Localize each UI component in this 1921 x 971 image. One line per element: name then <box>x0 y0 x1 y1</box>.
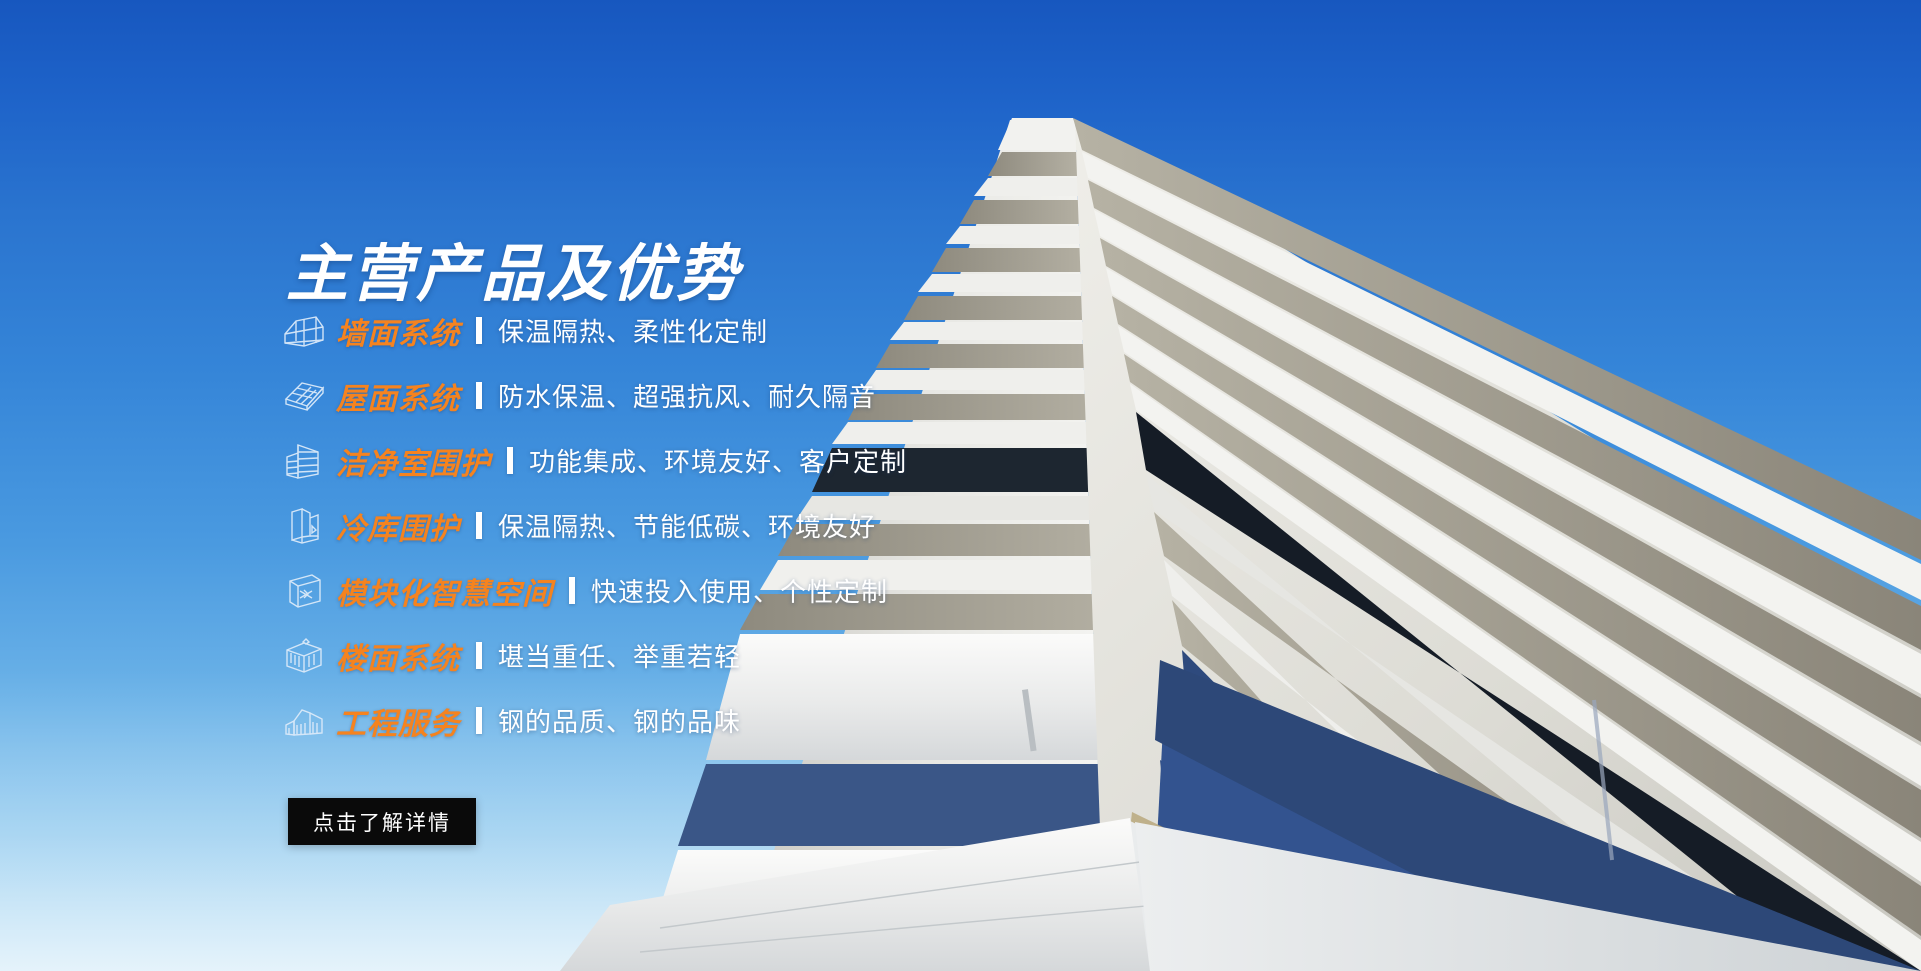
roof-panel-icon <box>282 373 336 419</box>
product-category: 楼面系统 <box>336 634 460 678</box>
list-item[interactable]: 洁净室围护 功能集成、环境友好、客户定制 <box>282 428 1102 493</box>
divider-bar <box>569 577 575 604</box>
list-item[interactable]: 模块化智慧空间 快速投入使用、个性定制 <box>282 558 1102 623</box>
modular-cube-icon <box>282 568 336 614</box>
wall-frame-icon <box>282 308 336 354</box>
hero-content: 主营产品及优势 墙面系统 保温隔热、柔性化定制 <box>0 0 1100 971</box>
product-description: 防水保温、超强抗风、耐久隔音 <box>498 377 876 414</box>
product-description: 堪当重任、举重若轻 <box>498 637 741 674</box>
product-description: 功能集成、环境友好、客户定制 <box>529 442 907 479</box>
list-item[interactable]: 楼面系统 堪当重任、举重若轻 <box>282 623 1102 688</box>
product-description: 保温隔热、柔性化定制 <box>498 312 768 349</box>
product-description: 保温隔热、节能低碳、环境友好 <box>498 507 876 544</box>
list-item[interactable]: 墙面系统 保温隔热、柔性化定制 <box>282 298 1102 363</box>
divider-bar <box>507 447 513 474</box>
engineering-service-icon <box>282 698 336 744</box>
product-description: 钢的品质、钢的品味 <box>498 702 741 739</box>
product-category: 墙面系统 <box>336 309 460 353</box>
list-item[interactable]: 屋面系统 防水保温、超强抗风、耐久隔音 <box>282 363 1102 428</box>
product-category: 屋面系统 <box>336 374 460 418</box>
divider-bar <box>476 642 482 669</box>
list-item[interactable]: 工程服务 钢的品质、钢的品味 <box>282 688 1102 753</box>
divider-bar <box>476 382 482 409</box>
divider-bar <box>476 512 482 539</box>
product-category: 工程服务 <box>336 699 460 743</box>
page-title: 主营产品及优势 <box>286 244 741 306</box>
hero-banner: 主营产品及优势 墙面系统 保温隔热、柔性化定制 <box>0 0 1921 971</box>
product-list: 墙面系统 保温隔热、柔性化定制 屋面系统 防水保温、超强抗风、 <box>282 298 1102 753</box>
floor-deck-icon <box>282 633 336 679</box>
cleanroom-building-icon <box>282 438 336 484</box>
product-category: 冷库围护 <box>336 504 460 548</box>
cold-storage-icon <box>282 503 336 549</box>
product-description: 快速投入使用、个性定制 <box>591 572 888 609</box>
product-category: 洁净室围护 <box>336 439 491 483</box>
product-category: 模块化智慧空间 <box>336 569 553 613</box>
divider-bar <box>476 707 482 734</box>
list-item[interactable]: 冷库围护 保温隔热、节能低碳、环境友好 <box>282 493 1102 558</box>
divider-bar <box>476 317 482 344</box>
learn-more-button[interactable]: 点击了解详情 <box>288 798 476 845</box>
